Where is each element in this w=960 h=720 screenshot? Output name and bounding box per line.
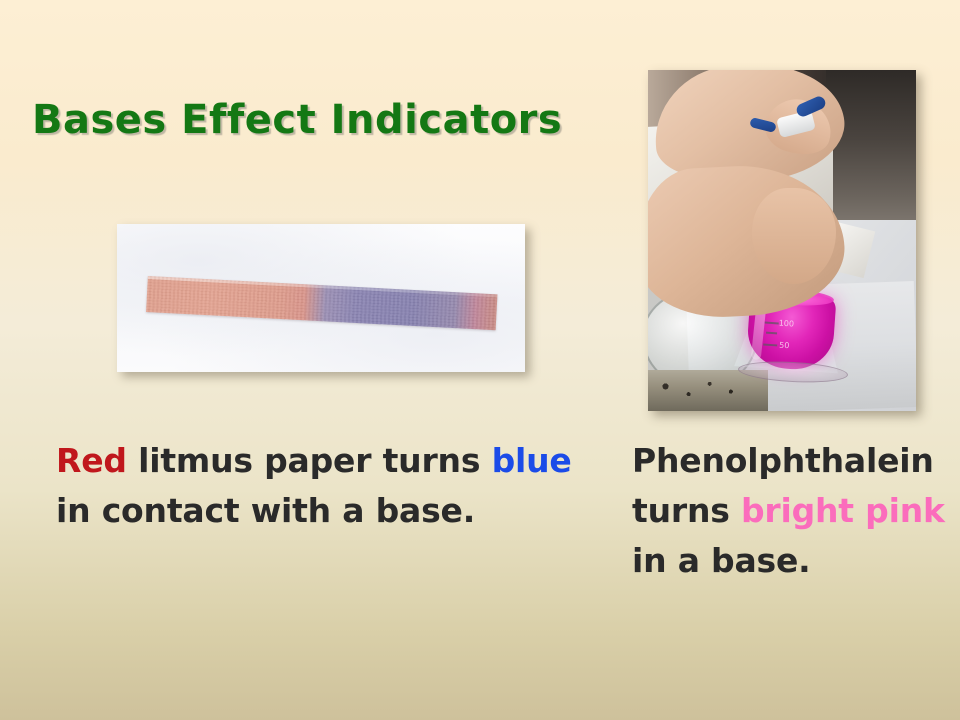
caption-right: Phenolphthalein turns bright pink in a b… [632, 436, 957, 586]
phenolphthalein-flask-image: 200 mL ±5% 150 100 50 [648, 70, 916, 411]
page-title: Bases Effect Indicators [32, 97, 562, 143]
caption-left: Red litmus paper turns blue in contact w… [56, 436, 596, 536]
bench-debris [654, 376, 750, 402]
caption-right-word-pink: bright pink [741, 491, 945, 530]
slide-canvas: Bases Effect Indicators [0, 0, 960, 720]
graduation-100: 100 [778, 319, 794, 329]
caption-left-word-blue: blue [492, 441, 572, 480]
caption-right-text-2: in a base. [632, 541, 811, 580]
caption-left-text-1: litmus paper turns [127, 441, 492, 480]
caption-left-text-2: in contact with a base. [56, 491, 475, 530]
graduation-50: 50 [779, 341, 790, 351]
litmus-paper-image [117, 224, 525, 372]
caption-left-word-red: Red [56, 441, 127, 480]
